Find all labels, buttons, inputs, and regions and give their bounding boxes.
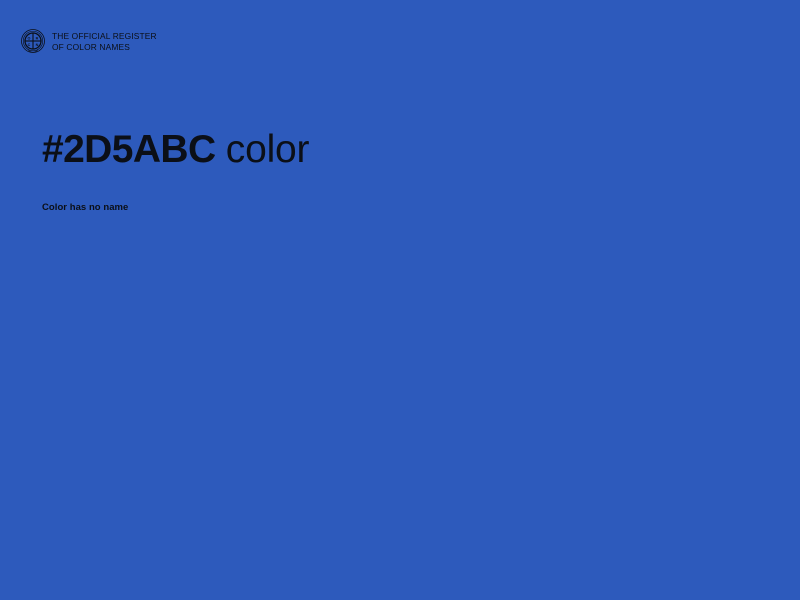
- color-name-status: Color has no name: [42, 174, 742, 214]
- brand-wordmark-line2: OF COLOR NAMES: [52, 42, 157, 52]
- color-detail-page: O R C N THE OFFICIAL REGISTER OF COLOR N…: [0, 0, 800, 600]
- color-hex-value: #2D5ABC: [42, 128, 216, 171]
- brand-lockup[interactable]: O R C N THE OFFICIAL REGISTER OF COLOR N…: [21, 29, 157, 53]
- page-title: #2D5ABC color: [42, 126, 742, 174]
- svg-text:O: O: [28, 36, 31, 40]
- page-title-suffix: color: [226, 128, 310, 171]
- svg-text:R: R: [36, 36, 39, 40]
- main-content: #2D5ABC color Color has no name: [42, 126, 742, 214]
- brand-wordmark: THE OFFICIAL REGISTER OF COLOR NAMES: [52, 30, 157, 51]
- svg-text:C: C: [28, 43, 31, 47]
- svg-text:N: N: [36, 43, 39, 47]
- brand-wordmark-line1: THE OFFICIAL REGISTER: [52, 31, 157, 41]
- official-register-seal-icon: O R C N: [21, 29, 45, 53]
